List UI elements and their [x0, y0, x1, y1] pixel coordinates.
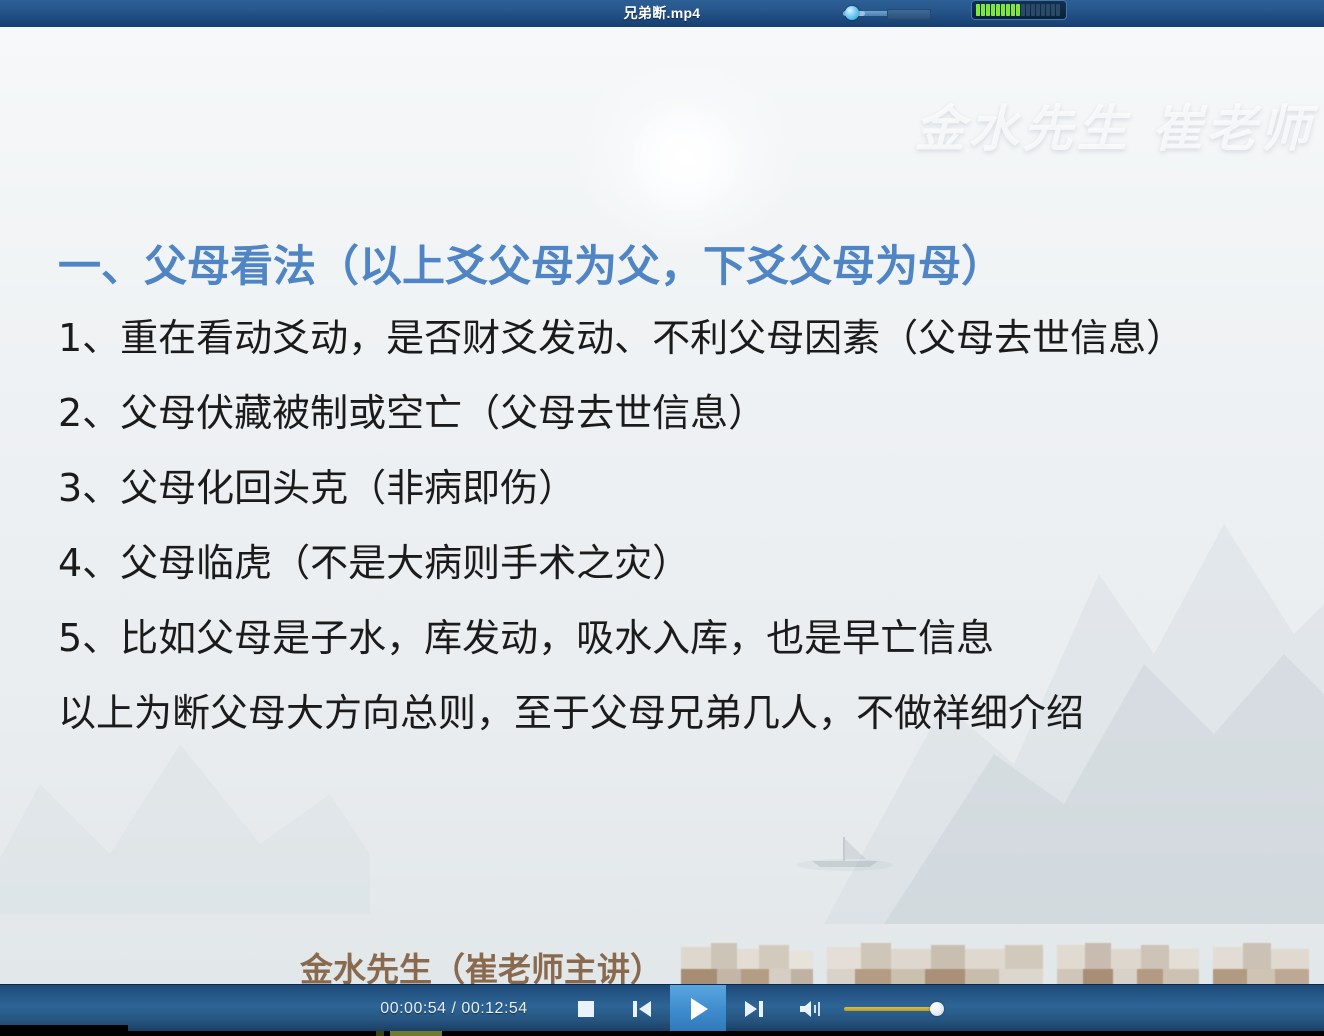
next-button[interactable] [726, 985, 782, 1032]
previous-button[interactable] [614, 985, 670, 1032]
stop-button[interactable] [558, 985, 614, 1032]
play-icon [683, 994, 713, 1024]
seek-slider-grip[interactable] [887, 9, 931, 20]
video-player-window: 兄弟断.mp4 [0, 0, 1324, 1036]
slide-line-6: 以上为断父母大方向总则，至于父母兄弟几人，不做祥细介绍 [58, 694, 1288, 732]
censored-text-blocks [681, 943, 1309, 984]
next-icon [742, 999, 766, 1019]
censored-block-2 [827, 943, 1043, 984]
volume-slider-knob[interactable] [930, 1002, 944, 1016]
taskbar-accent [390, 1031, 442, 1036]
timecode-display: 00:00:54 / 00:12:54 [380, 1000, 527, 1018]
sun-decoration [631, 105, 739, 213]
titlebar-seek-slider[interactable] [843, 4, 921, 22]
taskbar-accent-dark [376, 1031, 384, 1036]
slide-line-2: 2、父母伏藏被制或空亡（父母去世信息） [58, 394, 1288, 432]
volume-control[interactable] [788, 985, 944, 1032]
presentation-slide: 金水先生 崔老师 一、父母看法（以上爻父母为父，下爻父母为母） 1、重在看动爻动… [0, 27, 1324, 984]
previous-icon [630, 999, 654, 1019]
boat-decoration [790, 827, 900, 875]
video-surface[interactable]: 金水先生 崔老师 一、父母看法（以上爻父母为父，下爻父母为母） 1、重在看动爻动… [0, 27, 1324, 984]
stop-icon [578, 1001, 594, 1017]
slide-line-1: 1、重在看动爻动，是否财爻发动、不利父母因素（父母去世信息） [58, 319, 1288, 357]
slide-heading: 一、父母看法（以上爻父母为父，下爻父母为母） [58, 232, 1004, 294]
taskbar-strip [0, 1031, 1324, 1036]
window-title: 兄弟断.mp4 [0, 0, 1324, 27]
mute-button[interactable] [788, 985, 834, 1032]
player-control-bar: 00:00:54 / 00:12:54 [0, 984, 1324, 1032]
slide-line-3: 3、父母化回头克（非病即伤） [58, 469, 1288, 507]
censored-block-4 [1213, 943, 1309, 984]
volume-slider[interactable] [844, 1002, 944, 1016]
censored-block-1 [681, 943, 813, 984]
title-bar: 兄弟断.mp4 [0, 0, 1324, 28]
slide-line-5: 5、比如父母是子水，库发动，吸水入库，也是早亡信息 [58, 619, 1288, 657]
slide-credit: 金水先生（崔老师主讲） [300, 943, 663, 984]
audio-level-meter [971, 0, 1067, 20]
play-button[interactable] [670, 985, 726, 1032]
slide-body: 1、重在看动爻动，是否财爻发动、不利父母因素（父母去世信息） 2、父母伏藏被制或… [58, 319, 1288, 769]
speaker-icon [798, 999, 824, 1019]
watermark-top-right: 金水先生 崔老师 [915, 89, 1314, 161]
volume-slider-track[interactable] [844, 1007, 944, 1011]
slide-credit-row: 金水先生（崔老师主讲） [300, 943, 1309, 984]
seek-slider-knob[interactable] [845, 6, 859, 20]
slide-line-4: 4、父母临虎（不是大病则手术之灾） [58, 544, 1288, 582]
censored-block-3 [1057, 943, 1199, 984]
